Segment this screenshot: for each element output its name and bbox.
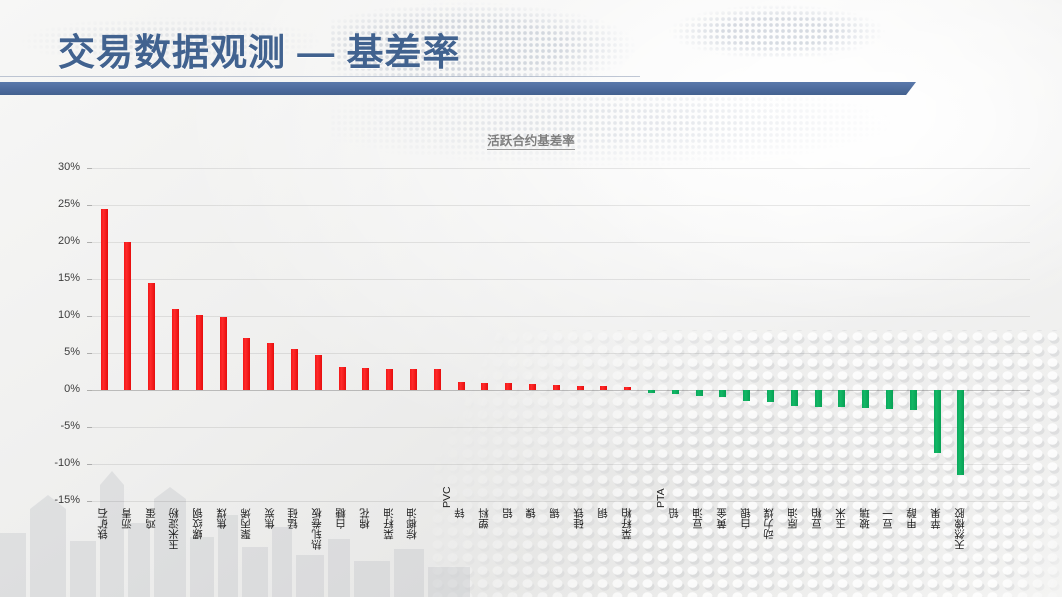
x-axis-label: 铁矿石: [98, 508, 109, 540]
x-axis-label: 菜籽粕: [622, 508, 633, 540]
bar: [220, 317, 227, 390]
y-axis-tickmark: [87, 279, 92, 280]
dotted-world-map-right: [660, 4, 920, 60]
x-axis-label: 硅铁: [574, 508, 585, 529]
bar: [339, 367, 346, 390]
x-axis-label: 玉米: [836, 508, 847, 529]
bar: [600, 386, 607, 390]
y-axis-tickmark: [87, 427, 92, 428]
x-axis-label: 铜: [598, 508, 609, 519]
bar: [838, 390, 845, 407]
y-axis-label: 25%: [14, 198, 80, 210]
bar: [172, 309, 179, 390]
y-axis-label: -10%: [14, 457, 80, 469]
x-axis-label: PTA: [656, 488, 667, 508]
x-axis-label: 黄金: [717, 508, 728, 529]
bar: [505, 383, 512, 390]
x-axis-label: 原油: [788, 508, 799, 529]
x-axis-label: 玉米淀粉: [169, 508, 180, 550]
y-axis-tickmark: [87, 501, 92, 502]
y-axis-label: 0%: [14, 383, 80, 395]
y-axis-label: 10%: [14, 309, 80, 321]
bar: [815, 390, 822, 407]
bar: [743, 390, 750, 401]
x-axis-label: 玻璃: [860, 508, 871, 529]
bar: [648, 390, 655, 393]
x-axis-label: 棕榔油: [407, 508, 418, 540]
bar: [577, 386, 584, 390]
bar: [910, 390, 917, 410]
bar: [101, 209, 108, 390]
bar: [481, 383, 488, 390]
bar: [434, 369, 441, 390]
bar: [957, 390, 964, 475]
bar: [624, 387, 631, 390]
page-title: 交易数据观测 — 基差率: [58, 22, 461, 76]
x-axis-label: 菜籽油: [384, 508, 395, 540]
basis-rate-bar-chart: 活跃合约基差率 30%25%20%15%10%5%0%-5%-10%-15%铁矿…: [0, 118, 1062, 588]
gridline: [92, 168, 1030, 169]
x-axis-label: 焦炭: [265, 508, 276, 529]
bar: [267, 343, 274, 390]
bar: [553, 385, 560, 390]
bar: [672, 390, 679, 394]
gridline: [92, 464, 1030, 465]
y-axis-label: -5%: [14, 420, 80, 432]
bar: [386, 369, 393, 390]
x-axis-label: 铝: [503, 508, 514, 519]
bar: [196, 315, 203, 390]
bar: [696, 390, 703, 396]
bar: [315, 355, 322, 390]
y-axis-tickmark: [87, 464, 92, 465]
bar: [410, 369, 417, 390]
bar: [886, 390, 893, 409]
gridline: [92, 279, 1030, 280]
bar: [362, 368, 369, 390]
x-axis-label: 棉花: [360, 508, 371, 529]
bar: [124, 242, 131, 390]
bar: [529, 384, 536, 390]
x-axis-label: 白银: [741, 508, 752, 529]
y-axis-tickmark: [87, 390, 92, 391]
x-axis-label: PVC: [442, 486, 453, 508]
y-axis-tickmark: [87, 205, 92, 206]
x-axis-label: 锡: [550, 508, 561, 519]
x-axis-label: 聚丙烯: [241, 508, 252, 540]
x-axis-label: 豆油: [693, 508, 704, 529]
x-axis-label: 甲醇: [907, 508, 918, 529]
y-axis-label: 30%: [14, 161, 80, 173]
x-axis-label: 锌: [455, 508, 466, 519]
x-axis-label: 沥青: [122, 508, 133, 529]
y-axis-tickmark: [87, 353, 92, 354]
y-axis-label: 15%: [14, 272, 80, 284]
x-axis-label: 豆粕: [812, 508, 823, 529]
chart-title-text: 活跃合约基差率: [487, 134, 575, 150]
y-axis-tickmark: [87, 316, 92, 317]
x-axis-label: 锰硅: [288, 508, 299, 529]
slide-canvas: 交易数据观测 — 基差率 活跃合约基差率 30%25%20%15%10%5%0%…: [0, 0, 1062, 597]
x-axis-label: 豆一: [883, 508, 894, 529]
bar: [862, 390, 869, 408]
chart-plot-area: 30%25%20%15%10%5%0%-5%-10%-15%铁矿石沥青鸡蛋玉米淀…: [92, 168, 1030, 501]
y-axis-label: 20%: [14, 235, 80, 247]
x-axis-label: 白糖: [336, 508, 347, 529]
gridline: [92, 353, 1030, 354]
y-axis-tickmark: [87, 168, 92, 169]
x-axis-label: 镍: [526, 508, 537, 519]
gridline: [92, 242, 1030, 243]
bar: [291, 349, 298, 390]
gridline: [92, 316, 1030, 317]
bar: [719, 390, 726, 397]
bar: [243, 338, 250, 390]
title-divider-tip: [894, 82, 916, 95]
gridline: [92, 205, 1030, 206]
title-divider-bar: [0, 82, 896, 95]
chart-title: 活跃合约基差率: [0, 130, 1062, 149]
x-axis-label: 鸡蛋: [146, 508, 157, 529]
bar: [934, 390, 941, 453]
bar: [767, 390, 774, 402]
x-axis-label: 螺纹钢: [193, 508, 204, 540]
y-axis-tickmark: [87, 242, 92, 243]
x-axis-label: 塑料: [479, 508, 490, 529]
bar: [791, 390, 798, 406]
x-axis-label: 热轧卷板: [312, 508, 323, 550]
bar: [458, 382, 465, 390]
x-axis-label: 铅: [669, 508, 680, 519]
x-axis-label: 苹果: [931, 508, 942, 529]
x-axis-label: 动力煤: [764, 508, 775, 540]
x-axis-label: 天然橡胶: [955, 508, 966, 550]
x-axis-label: 焦煤: [217, 508, 228, 529]
gridline: [92, 501, 1030, 502]
title-hairline: [0, 76, 640, 77]
bar: [148, 283, 155, 390]
y-axis-label: -15%: [14, 494, 80, 506]
gridline: [92, 427, 1030, 428]
y-axis-label: 5%: [14, 346, 80, 358]
